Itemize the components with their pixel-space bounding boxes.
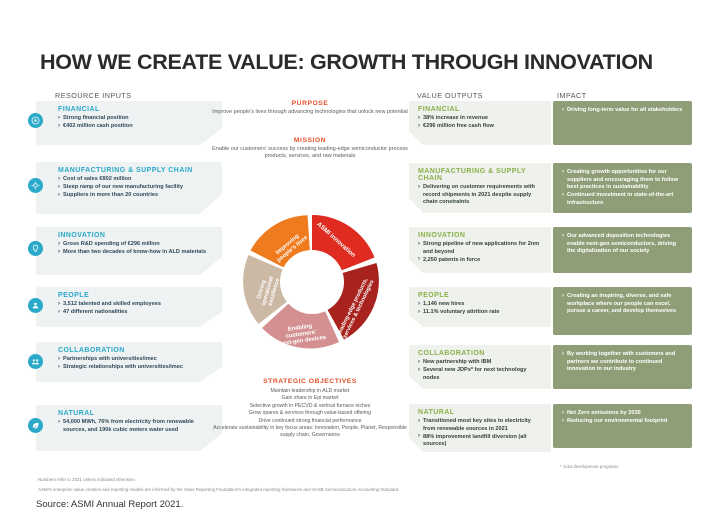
- output-bullets-manufacturing: Delivering on customer requirements with…: [418, 184, 544, 207]
- strategic-objective-item: Gain share in Epi market: [205, 395, 415, 402]
- footnote-line-1: Numbers refer to 2021 unless indicated o…: [38, 477, 136, 483]
- mission-block: MISSION Enable our customers' success by…: [210, 137, 410, 160]
- resource-category-natural: NATURAL: [58, 410, 214, 417]
- resource-category-people: PEOPLE: [58, 292, 214, 299]
- list-item: Several new JDPs* for next technology no…: [418, 367, 544, 382]
- impact-card-6: Net Zero emissions by 2035 Reducing our …: [553, 404, 692, 448]
- people-icon: [28, 298, 43, 313]
- strategic-objective-item: Accelerate sustainability in key focus a…: [205, 425, 415, 440]
- resource-bullets-natural: 54,000 MWh, 76% from electricity from re…: [58, 419, 214, 434]
- list-item: 2,250 patents in force: [418, 257, 544, 265]
- list-item: Continued investment in state-of-the-art…: [562, 192, 684, 207]
- handshake-icon: [28, 354, 43, 369]
- resource-card-manufacturing: MANUFACTURING & SUPPLY CHAIN Cost of sal…: [36, 162, 222, 214]
- column-header-value-outputs: VALUE OUTPUTS: [417, 91, 483, 100]
- list-item: Suppliers in more than 20 countries: [58, 192, 214, 200]
- coins-icon: [28, 113, 43, 128]
- resource-bullets-people: 3,512 talented and skilled employees 47 …: [58, 301, 214, 317]
- list-item: Gross R&D spending of €296 million: [58, 241, 214, 249]
- strategic-objective-item: Maintain leadership in ALD market: [205, 388, 415, 395]
- column-header-resource-inputs: RESOURCE INPUTS: [55, 91, 132, 100]
- output-card-natural: NATURAL Transitioned most key sites to e…: [409, 404, 551, 452]
- resource-category-innovation: INNOVATION: [58, 232, 214, 239]
- page-title: HOW WE CREATE VALUE: GROWTH THROUGH INNO…: [40, 50, 653, 75]
- list-item: 3,512 talented and skilled employees: [58, 301, 214, 309]
- list-item: New partnership with IBM: [418, 359, 544, 367]
- resource-card-financial: FINANCIAL Strong financial position €402…: [36, 101, 222, 145]
- factory-icon: [28, 178, 43, 193]
- strategic-objective-item: Grow spares & services through value-bas…: [205, 410, 415, 417]
- footnote-line-2: ASMI's enterprise value creation and rep…: [38, 487, 678, 493]
- strategic-objective-item: Selective growth in PECVD & vertical fur…: [205, 403, 415, 410]
- infographic-page: HOW WE CREATE VALUE: GROWTH THROUGH INNO…: [0, 0, 720, 521]
- resource-card-people: PEOPLE 3,512 talented and skilled employ…: [36, 287, 222, 327]
- impact-bullets-5: By working together with customers and p…: [562, 351, 684, 374]
- list-item: Transitioned most key sites to electrici…: [418, 418, 544, 433]
- list-item: Delivering on customer requirements with…: [418, 184, 544, 207]
- list-item: 47 different nationalities: [58, 309, 214, 317]
- resource-category-financial: FINANCIAL: [58, 106, 214, 113]
- impact-bullets-1: Driving long-term value for all stakehol…: [562, 107, 684, 115]
- impact-card-4: Creating an inspiring, diverse, and safe…: [553, 287, 692, 335]
- list-item: By working together with customers and p…: [562, 351, 684, 374]
- resource-card-innovation: INNOVATION Gross R&D spending of €296 mi…: [36, 227, 222, 275]
- resource-bullets-manufacturing: Cost of sales €802 million Steep ramp of…: [58, 176, 214, 200]
- strategic-objectives-block: STRATEGIC OBJECTIVES Maintain leadership…: [205, 378, 415, 440]
- impact-bullets-2: Creating growth opportunities for our su…: [562, 169, 684, 207]
- output-card-manufacturing: MANUFACTURING & SUPPLY CHAIN Delivering …: [409, 163, 551, 213]
- list-item: Strategic relationships with universitie…: [58, 364, 214, 372]
- impact-card-1: Driving long-term value for all stakehol…: [553, 101, 692, 145]
- resource-card-collaboration: COLLABORATION Partnerships with universi…: [36, 342, 222, 382]
- list-item: Creating growth opportunities for our su…: [562, 169, 684, 192]
- impact-card-3: Our advanced deposition technologies ena…: [553, 227, 692, 273]
- impact-card-5: By working together with customers and p…: [553, 345, 692, 389]
- list-item: €296 million free cash flow: [418, 123, 544, 131]
- impact-bullets-3: Our advanced deposition technologies ena…: [562, 233, 684, 256]
- mission-label: MISSION: [210, 137, 410, 144]
- impact-bullets-4: Creating an inspiring, diverse, and safe…: [562, 293, 684, 316]
- resource-bullets-collaboration: Partnerships with universities/imec Stra…: [58, 356, 214, 372]
- purpose-block: PURPOSE Improve people's lives through a…: [210, 100, 410, 116]
- list-item: Our advanced deposition technologies ena…: [562, 233, 684, 256]
- list-item: Cost of sales €802 million: [58, 176, 214, 184]
- list-item: Steep ramp of our new manufacturing faci…: [58, 184, 214, 192]
- strategic-objectives-label: STRATEGIC OBJECTIVES: [205, 378, 415, 385]
- column-header-impact: IMPACT: [557, 91, 587, 100]
- value-creation-wheel: ASMI innovation Leading-edge products, s…: [227, 197, 397, 367]
- purpose-text: Improve people's lives through advancing…: [210, 109, 410, 116]
- output-bullets-natural: Transitioned most key sites to electrici…: [418, 418, 544, 449]
- output-category-natural: NATURAL: [418, 409, 544, 416]
- list-item: Partnerships with universities/imec: [58, 356, 214, 364]
- output-card-innovation: INNOVATION Strong pipeline of new applic…: [409, 227, 551, 273]
- list-item: Strong financial position: [58, 115, 214, 123]
- output-category-manufacturing: MANUFACTURING & SUPPLY CHAIN: [418, 168, 544, 182]
- impact-bullets-6: Net Zero emissions by 2035 Reducing our …: [562, 410, 684, 426]
- lightbulb-icon: [28, 241, 43, 256]
- list-item: 54,000 MWh, 76% from electricity from re…: [58, 419, 214, 434]
- output-bullets-innovation: Strong pipeline of new applications for …: [418, 241, 544, 264]
- output-bullets-people: 1,146 new hires 11.1% voluntary attritio…: [418, 301, 544, 317]
- impact-card-2: Creating growth opportunities for our su…: [553, 163, 692, 213]
- source-caption: Source: ASMI Annual Report 2021.: [36, 499, 183, 510]
- list-item: Creating an inspiring, diverse, and safe…: [562, 293, 684, 316]
- list-item: Reducing our environmental footprint: [562, 418, 684, 426]
- leaf-icon: [28, 418, 43, 433]
- resource-category-manufacturing: MANUFACTURING & SUPPLY CHAIN: [58, 167, 214, 174]
- resource-category-collaboration: COLLABORATION: [58, 347, 214, 354]
- output-card-collaboration: COLLABORATION New partnership with IBM S…: [409, 345, 551, 389]
- list-item: More than two decades of know-how in ALD…: [58, 249, 214, 257]
- list-item: 88% improvement landfill diversion (all …: [418, 434, 544, 449]
- output-card-financial: FINANCIAL 38% increase in revenue €296 m…: [409, 101, 551, 145]
- output-category-people: PEOPLE: [418, 292, 544, 299]
- resource-bullets-innovation: Gross R&D spending of €296 million More …: [58, 241, 214, 257]
- strategic-objective-item: Drive continued strong financial perform…: [205, 418, 415, 425]
- resource-card-natural: NATURAL 54,000 MWh, 76% from electricity…: [36, 405, 222, 451]
- list-item: Driving long-term value for all stakehol…: [562, 107, 684, 115]
- list-item: Strong pipeline of new applications for …: [418, 241, 544, 256]
- list-item: 11.1% voluntary attrition rate: [418, 309, 544, 317]
- list-item: Net Zero emissions by 2035: [562, 410, 684, 418]
- list-item: 1,146 new hires: [418, 301, 544, 309]
- list-item: 38% increase in revenue: [418, 115, 544, 123]
- output-card-people: PEOPLE 1,146 new hires 11.1% voluntary a…: [409, 287, 551, 327]
- output-bullets-collaboration: New partnership with IBM Several new JDP…: [418, 359, 544, 382]
- purpose-label: PURPOSE: [210, 100, 410, 107]
- mission-text: Enable our customers' success by creatin…: [210, 146, 410, 160]
- resource-bullets-financial: Strong financial position €402 million c…: [58, 115, 214, 131]
- footnote-star: * Joint development programs: [560, 464, 618, 469]
- output-bullets-financial: 38% increase in revenue €296 million fre…: [418, 115, 544, 131]
- output-category-innovation: INNOVATION: [418, 232, 544, 239]
- output-category-collaboration: COLLABORATION: [418, 350, 544, 357]
- output-category-financial: FINANCIAL: [418, 106, 544, 113]
- list-item: €402 million cash position: [58, 123, 214, 131]
